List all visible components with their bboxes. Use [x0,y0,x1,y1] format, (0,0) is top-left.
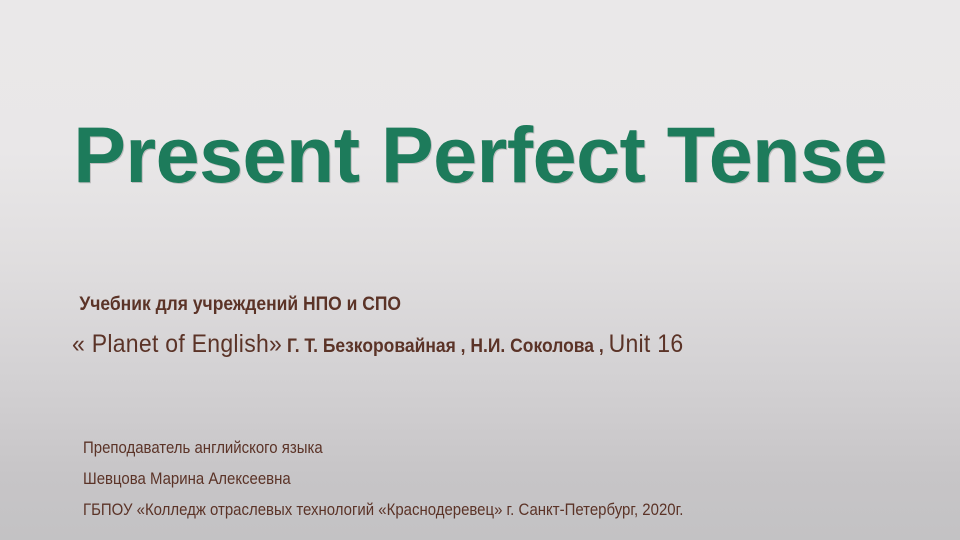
presenter-institution: ГБПОУ «Колледж отраслевых технологий «Кр… [83,494,831,525]
title-block: Present Perfect Tense [0,112,960,198]
subtitle-block: Учебник для учреждений НПО и СПО « Plane… [72,291,912,362]
presenter-block: Преподаватель английского языка Шевцова … [83,432,933,525]
book-authors: Г. Т. Безкоровайная , Н.И. Соколова , [287,336,604,357]
book-unit: Unit 16 [609,330,684,358]
page-title: Present Perfect Tense [0,112,960,198]
presenter-role: Преподаватель английского языка [83,432,831,463]
presenter-name: Шевцова Марина Алексеевна [83,463,831,494]
presentation-slide: Present Perfect Tense Учебник для учрежд… [0,0,960,540]
subtitle-book-reference: « Planet of English» Г. Т. Безкоровайная… [72,329,845,362]
book-title: « Planet of English» [72,330,282,358]
subtitle-textbook-source: Учебник для учреждений НПО и СПО [72,291,845,318]
